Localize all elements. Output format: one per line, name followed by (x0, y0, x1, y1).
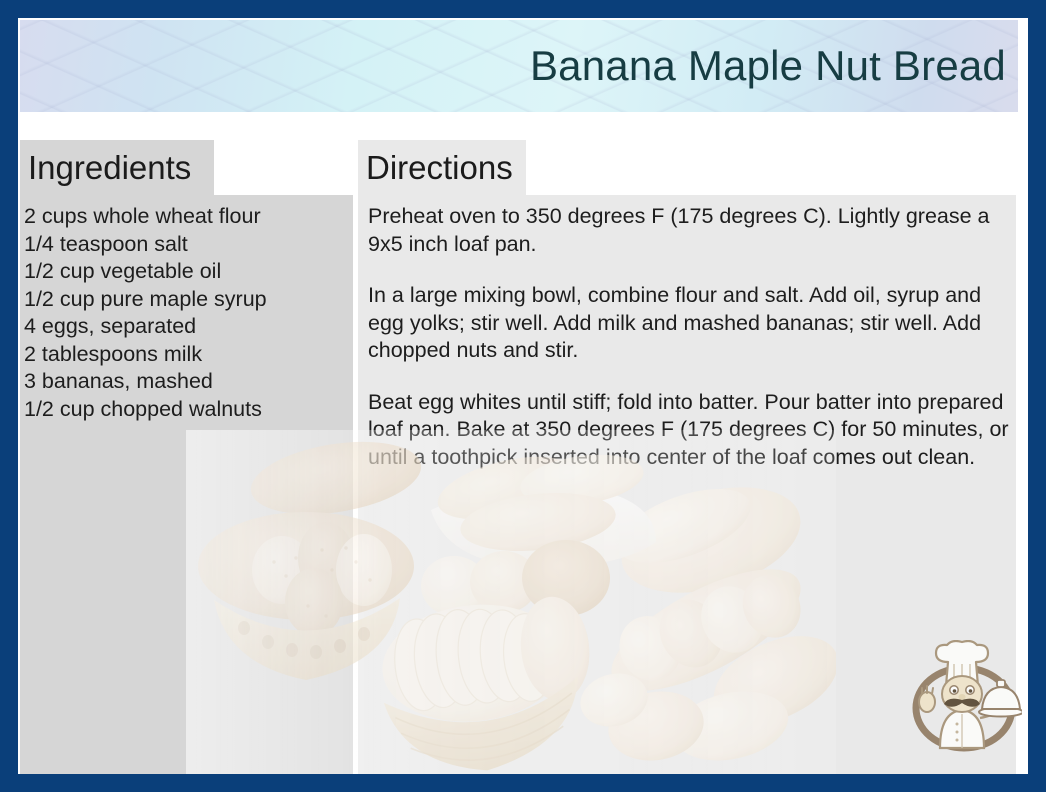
ingredients-panel: 2 cups whole wheat flour 1/4 teaspoon sa… (20, 195, 353, 775)
page-title: Banana Maple Nut Bread (530, 42, 1006, 90)
list-item: 2 tablespoons milk (24, 341, 347, 369)
section-heading-directions: Directions (358, 140, 526, 195)
list-item: 1/4 teaspoon salt (24, 231, 347, 259)
list-item: 1/2 cup chopped walnuts (24, 396, 347, 424)
list-item: 1/2 cup pure maple syrup (24, 286, 347, 314)
directions-paragraph: In a large mixing bowl, combine flour an… (368, 282, 1016, 365)
ingredients-list: 2 cups whole wheat flour 1/4 teaspoon sa… (24, 203, 347, 423)
chef-logo-icon (906, 640, 1022, 752)
list-item: 4 eggs, separated (24, 313, 347, 341)
section-heading-ingredients: Ingredients (20, 140, 214, 195)
directions-paragraph: Beat egg whites until stiff; fold into b… (368, 389, 1016, 472)
directions-paragraph: Preheat oven to 350 degrees F (175 degre… (368, 203, 1016, 258)
list-item: 1/2 cup vegetable oil (24, 258, 347, 286)
recipe-slide: Banana Maple Nut Bread Ingredients 2 cup… (0, 0, 1046, 792)
list-item: 3 bananas, mashed (24, 368, 347, 396)
directions-body: Preheat oven to 350 degrees F (175 degre… (368, 203, 1016, 471)
list-item: 2 cups whole wheat flour (24, 203, 347, 231)
header-banner: Banana Maple Nut Bread (20, 20, 1018, 112)
